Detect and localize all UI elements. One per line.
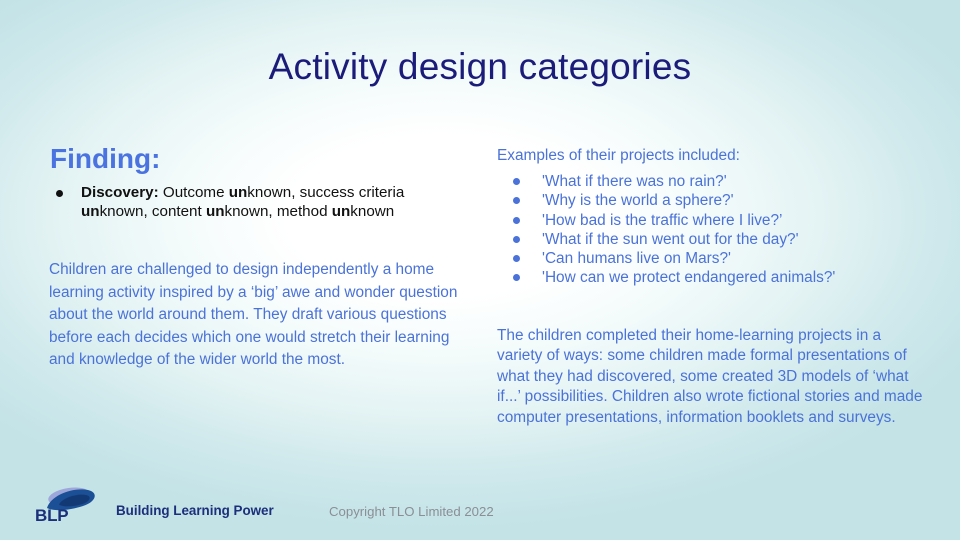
bullet-point-icon xyxy=(513,255,520,262)
bullet-point-icon xyxy=(513,178,520,185)
list-item: 'Why is the world a sphere?' xyxy=(513,191,929,210)
finding-heading: Finding: xyxy=(50,143,474,175)
slide-canvas: Activity design categories Finding: Disc… xyxy=(0,0,960,540)
bullet-point-icon xyxy=(56,190,63,197)
discovery-segment-2: known, success criteria xyxy=(247,184,404,201)
left-body-paragraph: Children are challenged to design indepe… xyxy=(49,259,474,372)
list-item: 'How bad is the traffic where I live?’ xyxy=(513,211,929,230)
blp-wordmark: BLP xyxy=(35,506,68,526)
left-column: Finding: Discovery: Outcome unknown, suc… xyxy=(44,143,474,372)
bullet-point-icon xyxy=(513,236,520,243)
list-item-label: 'Can humans live on Mars?' xyxy=(542,249,929,268)
discovery-segment-5: known xyxy=(350,203,394,220)
list-item-label: 'Why is the world a sphere?' xyxy=(542,191,929,210)
discovery-bold-un-1: un xyxy=(229,184,248,201)
discovery-bold-un-4: un xyxy=(332,203,351,220)
discovery-segment-3: known, content xyxy=(100,203,206,220)
bullet-point-icon xyxy=(513,197,520,204)
list-item: 'What if there was no rain?' xyxy=(513,172,929,191)
examples-intro-text: Examples of their projects included: xyxy=(497,146,929,166)
list-item: 'What if the sun went out for the day?' xyxy=(513,230,929,249)
slide-footer: BLP Building Learning Power Copyright TL… xyxy=(0,482,960,540)
examples-bullet-list: 'What if there was no rain?' 'Why is the… xyxy=(497,172,929,288)
discovery-bold-un-2: un xyxy=(81,203,100,220)
list-item: 'How can we protect endangered animals?' xyxy=(513,268,929,287)
blp-logo: BLP xyxy=(33,484,111,530)
list-item-label: 'How can we protect endangered animals?' xyxy=(542,268,929,287)
list-item-label: 'How bad is the traffic where I live?’ xyxy=(542,211,929,230)
list-item-label: 'What if the sun went out for the day?' xyxy=(542,230,929,249)
list-item: 'Can humans live on Mars?' xyxy=(513,249,929,268)
discovery-segment-1: Outcome xyxy=(159,184,229,201)
right-column: Examples of their projects included: 'Wh… xyxy=(497,146,929,428)
list-item-label: 'What if there was no rain?' xyxy=(542,172,929,191)
discovery-bullet-item: Discovery: Outcome unknown, success crit… xyxy=(56,183,474,221)
footer-brand-label: Building Learning Power xyxy=(116,503,274,518)
right-body-paragraph: The children completed their home-learni… xyxy=(497,326,929,429)
discovery-bold-un-3: un xyxy=(206,203,225,220)
discovery-label: Discovery: xyxy=(81,184,159,201)
discovery-segment-4: known, method xyxy=(225,203,332,220)
discovery-text: Discovery: Outcome unknown, success crit… xyxy=(81,183,474,221)
bullet-point-icon xyxy=(513,274,520,281)
footer-copyright-label: Copyright TLO Limited 2022 xyxy=(329,504,494,519)
page-title: Activity design categories xyxy=(0,45,960,89)
bullet-point-icon xyxy=(513,217,520,224)
